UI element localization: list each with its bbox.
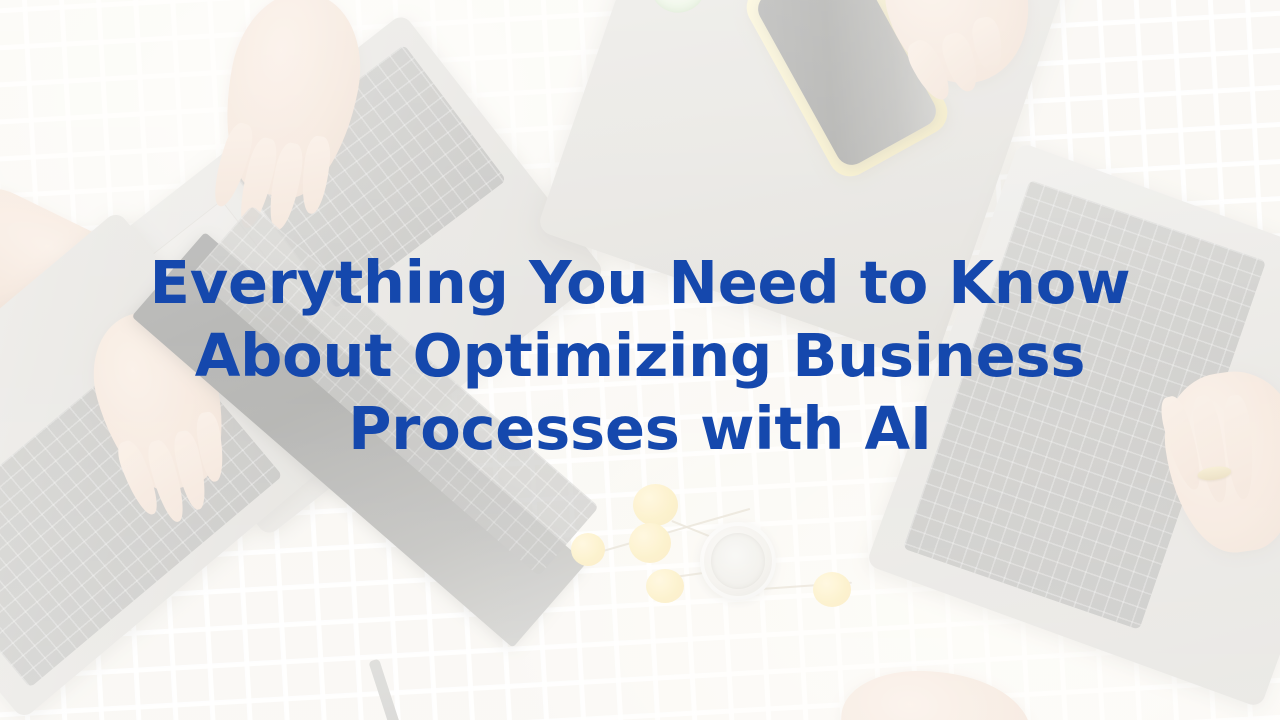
hero-banner: Everything You Need to Know About Optimi… <box>0 0 1280 720</box>
page-title: Everything You Need to Know About Optimi… <box>40 246 1240 465</box>
title-container: Everything You Need to Know About Optimi… <box>0 246 1280 465</box>
